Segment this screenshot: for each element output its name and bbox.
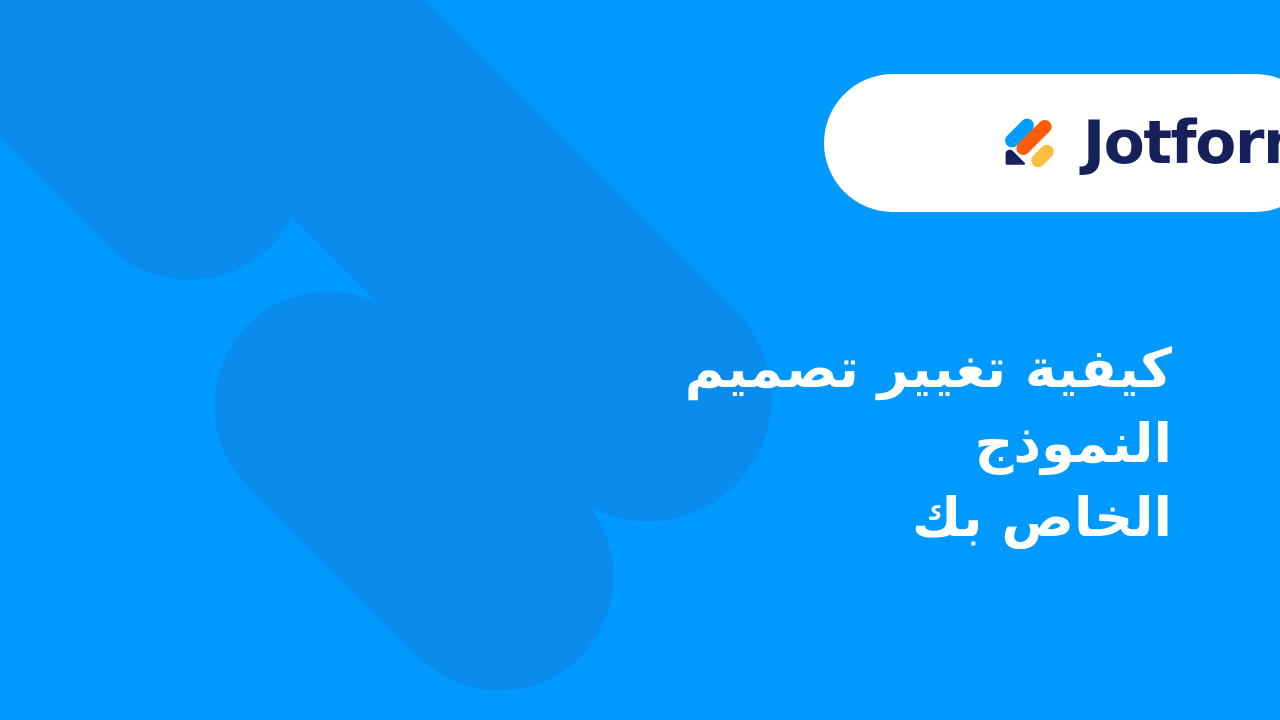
jotform-logo-lockup: Jotform	[929, 113, 1280, 173]
headline-line-2: الخاص بك	[472, 481, 1172, 556]
slide-canvas: Jotform كيفية تغيير تصميم النموذج الخاص …	[0, 0, 1280, 720]
jotform-wordmark: Jotform	[1083, 113, 1280, 173]
decor-capsule-top-left	[0, 0, 352, 327]
brand-pill: Jotform	[824, 74, 1280, 212]
jotform-logo-mark	[1001, 113, 1061, 173]
headline-line-1: كيفية تغيير تصميم النموذج	[472, 332, 1172, 481]
headline: كيفية تغيير تصميم النموذج الخاص بك	[472, 332, 1172, 556]
